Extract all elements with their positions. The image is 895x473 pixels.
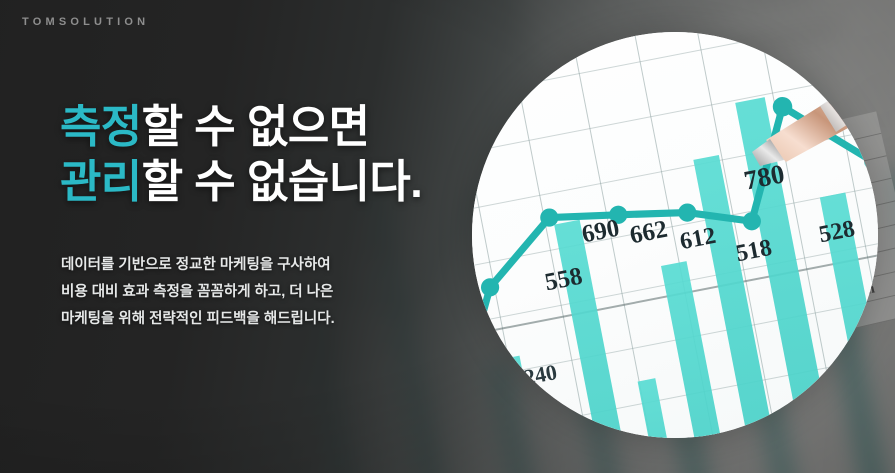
page-title: 측정할 수 없으면 관리할 수 없습니다. [60, 100, 422, 210]
pen-icon [708, 32, 878, 170]
body-line-3: 마케팅을 위해 전략적인 피드백을 해드립니다. [61, 306, 335, 333]
headline-line-1: 측정할 수 없으면 [60, 100, 422, 155]
headline-line-2: 관리할 수 없습니다. [60, 155, 422, 210]
headline-rest-2: 할 수 없습니다. [142, 156, 423, 207]
chart-photograph: 240 558 690 662 612 518 780 528 [472, 32, 878, 438]
hero-banner: 759 717 Platinum Silver Copper Steel Ber… [0, 0, 895, 473]
body-line-1: 데이터를 기반으로 정교한 마케팅을 구사하여 [61, 252, 335, 279]
headline-highlight-1: 측정 [60, 101, 142, 152]
body-line-2: 비용 대비 효과 측정을 꼼꼼하게 하고, 더 나은 [61, 279, 335, 306]
body-copy: 데이터를 기반으로 정교한 마케팅을 구사하여 비용 대비 효과 측정을 꼼꼼하… [61, 252, 335, 333]
headline-highlight-2: 관리 [60, 156, 142, 207]
headline-rest-1: 할 수 없으면 [142, 101, 370, 152]
circular-photo: 240 558 690 662 612 518 780 528 [472, 32, 878, 438]
brand-logo: TOMSOLUTION [22, 16, 149, 28]
